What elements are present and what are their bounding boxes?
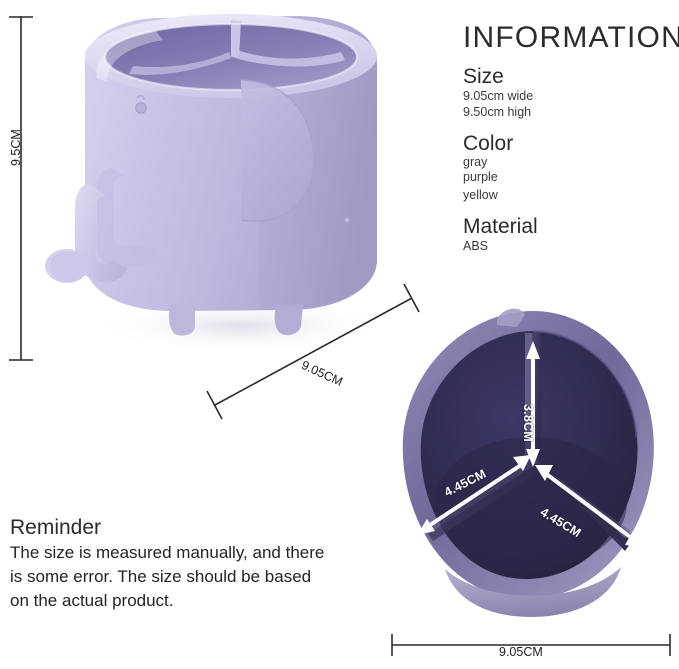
color-heading: Color (463, 132, 675, 155)
product-interior-photo (385, 305, 675, 620)
infographic-canvas: 9.5CM 9.05CM 9.05CM 3.8CM 4.45CM 4.45CM … (0, 0, 679, 669)
color-option-yellow: yellow (463, 187, 675, 204)
size-height-value: 9.50cm high (463, 104, 675, 121)
reminder-line-2: is some error. The size should be based (10, 566, 405, 588)
material-heading: Material (463, 215, 675, 238)
width-tick-left (207, 391, 222, 419)
reminder-section: Reminder The size is measured manually, … (10, 516, 405, 612)
size-width-value: 9.05cm wide (463, 88, 675, 105)
cup-foot-left (169, 304, 195, 336)
reminder-title: Reminder (10, 516, 405, 540)
color-option-gray: gray (463, 155, 675, 170)
product-main-photo (45, 8, 405, 358)
information-title: INFORMATION (463, 22, 675, 54)
color-option-purple: purple (463, 170, 675, 185)
reminder-line-1: The size is measured manually, and there (10, 542, 405, 564)
information-panel: INFORMATION Size 9.05cm wide 9.50cm high… (463, 22, 675, 255)
size-heading: Size (463, 65, 675, 88)
interior-width-dimension-label: 9.05CM (499, 645, 543, 659)
height-dimension-label: 9.5CM (9, 129, 23, 166)
interior-vertical-dimension-label: 3.8CM (521, 404, 535, 442)
body-speck (345, 218, 349, 222)
trunk-tip-shade (50, 251, 89, 282)
reminder-line-3: on the actual product. (10, 590, 405, 612)
material-value: ABS (463, 238, 675, 255)
width-dimension-label: 9.05CM (299, 358, 345, 389)
